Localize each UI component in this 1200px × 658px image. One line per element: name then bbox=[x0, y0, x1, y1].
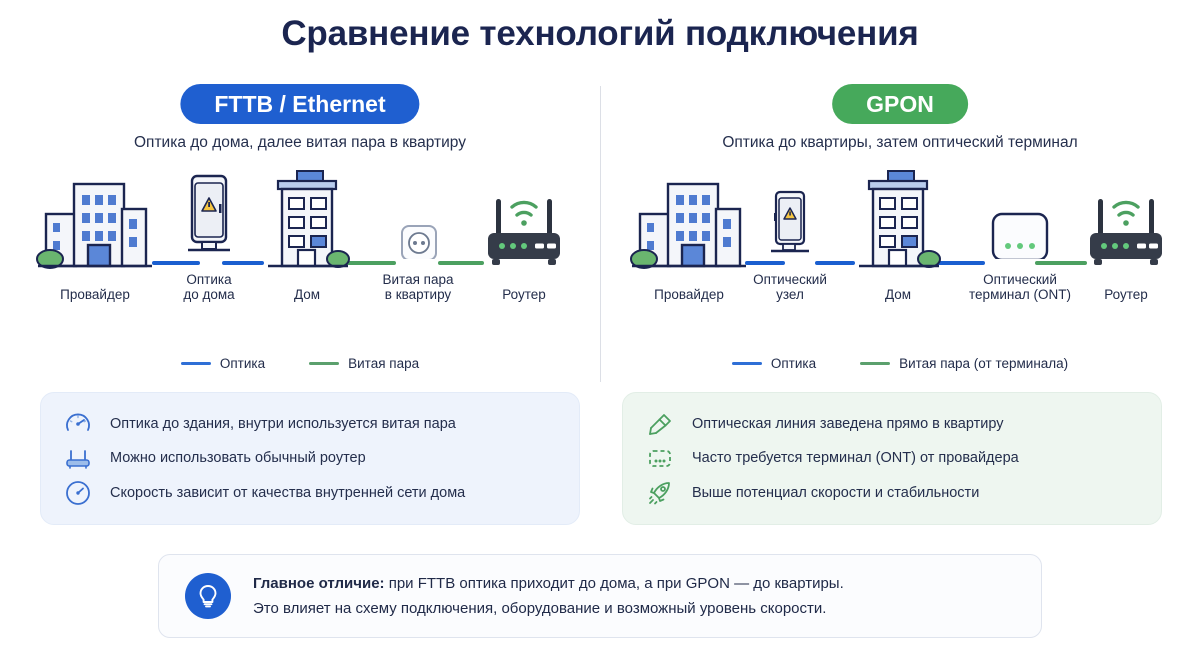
callout-line-2: Это влияет на схему подключения, оборудо… bbox=[253, 600, 844, 617]
node-label: Провайдер bbox=[60, 287, 130, 302]
node-label: Витая пара в квартиру bbox=[383, 272, 454, 302]
column-gpon: GPON Оптика до квартиры, затем оптически… bbox=[600, 84, 1200, 384]
callout-bold-lead: Главное отличие: bbox=[253, 575, 385, 592]
ont-terminal-icon bbox=[645, 443, 675, 473]
feature-row: Выше потенциал скорости и стабильности bbox=[645, 476, 1139, 510]
callout-line-1-rest: при FTTB оптика приходит до дома, а при … bbox=[385, 575, 844, 592]
feature-text: Часто требуется терминал (ONT) от провай… bbox=[692, 450, 1019, 466]
feature-row: Оптическая линия заведена прямо в кварти… bbox=[645, 407, 1139, 441]
feature-text: Можно использовать обычный роутер bbox=[110, 450, 366, 466]
legend-label: Оптика bbox=[771, 356, 816, 371]
key-difference-callout: Главное отличие: при FTTB оптика приходи… bbox=[158, 554, 1042, 638]
feature-panel-fttb: Оптика до здания, внутри используется ви… bbox=[40, 392, 580, 525]
node-label: Провайдер bbox=[654, 287, 724, 302]
node-provider: Провайдер bbox=[36, 169, 154, 302]
street-cabinet-icon bbox=[168, 154, 250, 264]
subtitle-fttb: Оптика до дома, далее витая пара в кварт… bbox=[0, 134, 600, 152]
badge-fttb: FTTB / Ethernet bbox=[180, 84, 419, 124]
badge-gpon: GPON bbox=[832, 84, 968, 124]
street-cabinet-icon bbox=[740, 154, 840, 264]
apartment-building-icon bbox=[262, 169, 352, 279]
gauge-icon bbox=[63, 478, 93, 508]
wall-socket-icon bbox=[372, 154, 464, 264]
node-wall-socket: Витая пара в квартиру bbox=[372, 154, 464, 302]
diagram-gpon: Провайдер Оптический узел bbox=[600, 172, 1200, 302]
node-ont-terminal: Оптический терминал (ONT) bbox=[955, 154, 1085, 302]
legend-item: Витая пара bbox=[309, 356, 419, 371]
node-street-cabinet: Оптика до дома bbox=[168, 154, 250, 302]
fiber-plug-icon bbox=[645, 409, 675, 439]
feature-row: Можно использовать обычный роутер bbox=[63, 441, 557, 475]
legend-item: Оптика bbox=[732, 356, 816, 371]
node-label: Роутер bbox=[502, 287, 546, 302]
legend-gpon: Оптика Витая пара (от терминала) bbox=[600, 356, 1200, 371]
router-icon bbox=[1078, 169, 1174, 279]
column-fttb: FTTB / Ethernet Оптика до дома, далее ви… bbox=[0, 84, 600, 384]
node-label: Дом bbox=[885, 287, 911, 302]
legend-swatch-utp bbox=[860, 362, 890, 365]
feature-panel-gpon: Оптическая линия заведена прямо в кварти… bbox=[622, 392, 1162, 525]
node-house: Дом bbox=[853, 169, 943, 302]
feature-text: Выше потенциал скорости и стабильности bbox=[692, 485, 979, 501]
feature-row: Часто требуется терминал (ONT) от провай… bbox=[645, 441, 1139, 475]
node-router: Роутер bbox=[1078, 169, 1174, 302]
node-house: Дом bbox=[262, 169, 352, 302]
legend-swatch-utp bbox=[309, 362, 339, 365]
node-label: Оптический терминал (ONT) bbox=[969, 272, 1071, 302]
feature-row: Оптика до здания, внутри используется ви… bbox=[63, 407, 557, 441]
node-provider: Провайдер bbox=[630, 169, 748, 302]
legend-item: Витая пара (от терминала) bbox=[860, 356, 1068, 371]
node-label: Роутер bbox=[1104, 287, 1148, 302]
infographic-page: Сравнение технологий подключения FTTB / … bbox=[0, 0, 1200, 658]
diagram-fttb: Провайдер Оптика до дома bbox=[0, 172, 600, 302]
legend-item: Оптика bbox=[181, 356, 265, 371]
callout-line-1: Главное отличие: при FTTB оптика приходи… bbox=[253, 575, 844, 592]
node-label: Оптика до дома bbox=[183, 272, 234, 302]
feature-row: Скорость зависит от качества внутренней … bbox=[63, 476, 557, 510]
speedometer-icon bbox=[63, 409, 93, 439]
ont-terminal-icon bbox=[955, 154, 1085, 264]
lightbulb-icon bbox=[185, 573, 231, 619]
router-icon bbox=[63, 443, 93, 473]
subtitle-gpon: Оптика до квартиры, затем оптический тер… bbox=[600, 134, 1200, 152]
legend-fttb: Оптика Витая пара bbox=[0, 356, 600, 371]
feature-text: Скорость зависит от качества внутренней … bbox=[110, 485, 465, 501]
apartment-building-icon bbox=[853, 169, 943, 279]
legend-swatch-fiber bbox=[732, 362, 762, 365]
router-icon bbox=[476, 169, 572, 279]
provider-buildings-icon bbox=[630, 169, 748, 279]
node-label: Дом bbox=[294, 287, 320, 302]
node-label: Оптический узел bbox=[753, 272, 827, 302]
legend-label: Витая пара (от терминала) bbox=[899, 356, 1068, 371]
node-optical-node: Оптический узел bbox=[740, 154, 840, 302]
provider-buildings-icon bbox=[36, 169, 154, 279]
legend-label: Оптика bbox=[220, 356, 265, 371]
legend-label: Витая пара bbox=[348, 356, 419, 371]
page-title: Сравнение технологий подключения bbox=[0, 14, 1200, 54]
legend-swatch-fiber bbox=[181, 362, 211, 365]
rocket-icon bbox=[645, 478, 675, 508]
callout-text-block: Главное отличие: при FTTB оптика приходи… bbox=[253, 575, 844, 617]
feature-text: Оптика до здания, внутри используется ви… bbox=[110, 416, 456, 432]
node-router: Роутер bbox=[476, 169, 572, 302]
feature-text: Оптическая линия заведена прямо в кварти… bbox=[692, 416, 1004, 432]
